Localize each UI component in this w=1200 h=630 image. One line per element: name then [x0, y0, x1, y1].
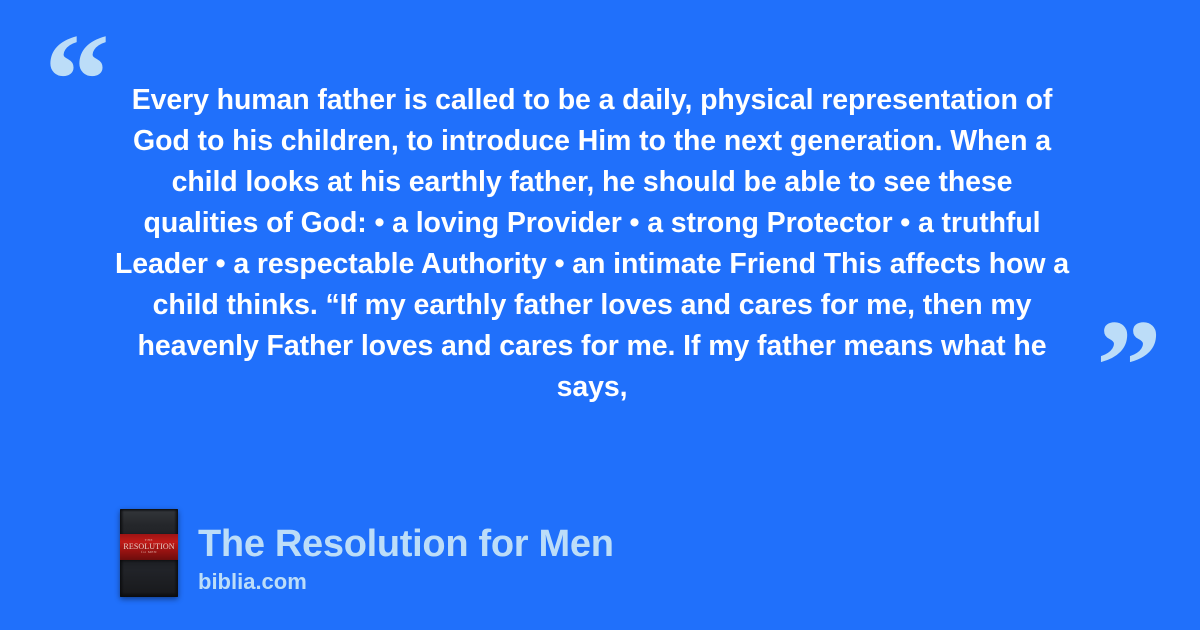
book-cover-banner: THE RESOLUTION for MEN: [120, 534, 178, 560]
book-cover-thumbnail: THE RESOLUTION for MEN: [120, 509, 178, 597]
cover-line-3: for MEN: [141, 551, 157, 554]
site-name: biblia.com: [198, 568, 614, 595]
cover-edge-top: [120, 509, 178, 512]
opening-quote-icon: “: [44, 14, 110, 146]
quote-card: “ Every human father is called to be a d…: [0, 0, 1200, 630]
attribution-footer: THE RESOLUTION for MEN The Resolution fo…: [120, 509, 614, 597]
closing-quote-icon: ”: [1096, 300, 1162, 432]
cover-line-1: THE: [145, 539, 153, 542]
attribution-text-group: The Resolution for Men biblia.com: [198, 522, 614, 597]
book-title: The Resolution for Men: [198, 522, 614, 566]
quote-text: Every human father is called to be a dai…: [112, 80, 1072, 408]
cover-edge-bottom: [120, 592, 178, 597]
